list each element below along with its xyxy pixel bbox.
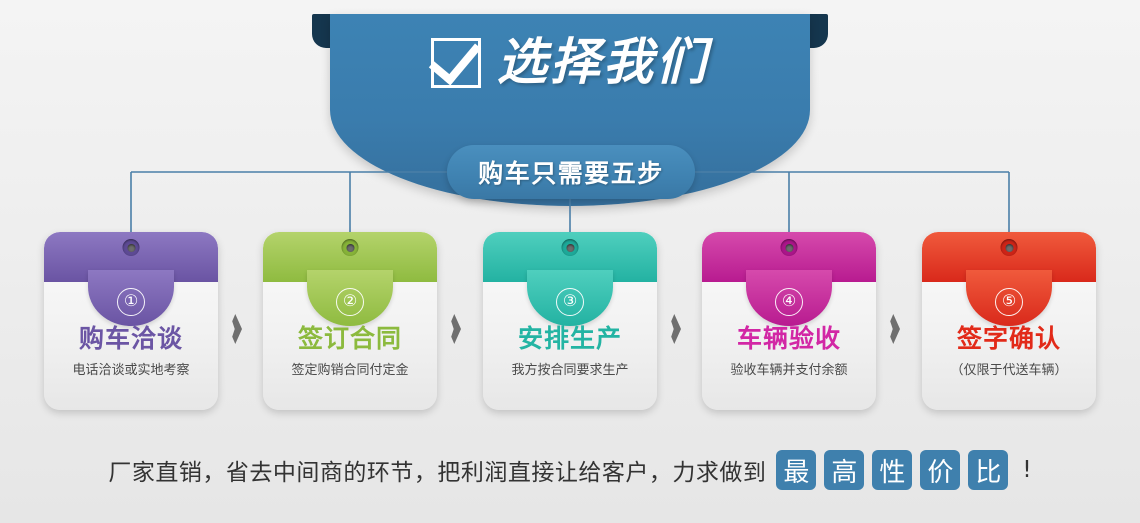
step-title-2: 签订合同 (263, 325, 437, 353)
grommet-hole-icon-2 (342, 239, 359, 256)
step-number-4: ④ (775, 288, 803, 316)
step-number-5: ⑤ (995, 288, 1023, 316)
step-subtitle-4: 验收车辆并支付余额 (702, 363, 876, 379)
step-card-tab-1: ① (88, 270, 174, 326)
step-title-4: 车辆验收 (702, 325, 876, 353)
step-arrow-icon-2 (447, 314, 461, 344)
highlight-box-2: 高 (824, 450, 864, 490)
step-arrow-icon-4 (886, 314, 900, 344)
footer-highlight-boxes: 最 高 性 价 比 (776, 450, 1008, 490)
step-card-tab-5: ⑤ (966, 270, 1052, 326)
step-title-1: 购车洽谈 (44, 325, 218, 353)
step-subtitle-1: 电话洽谈或实地考察 (44, 363, 218, 379)
footer-tagline: 厂家直销，省去中间商的环节，把利润直接让给客户，力求做到 最 高 性 价 比 ! (0, 440, 1140, 500)
step-card-4[interactable]: ④ 车辆验收 验收车辆并支付余额 (702, 232, 876, 410)
footer-lead-text: 厂家直销，省去中间商的环节，把利润直接让给客户，力求做到 (108, 453, 766, 487)
highlight-box-1: 最 (776, 450, 816, 490)
highlight-box-4: 价 (920, 450, 960, 490)
steps-row: ① 购车洽谈 电话洽谈或实地考察 ② 签订合同 签定购销合同付定金 ③ 安排生产… (0, 232, 1140, 412)
step-card-3[interactable]: ③ 安排生产 我方按合同要求生产 (483, 232, 657, 410)
step-subtitle-2: 签定购销合同付定金 (263, 363, 437, 379)
step-title-5: 签字确认 (922, 325, 1096, 353)
step-number-1: ① (117, 288, 145, 316)
subtitle-pill-label: 购车只需要五步 (478, 154, 664, 190)
step-arrow-icon-1 (228, 314, 242, 344)
step-card-2[interactable]: ② 签订合同 签定购销合同付定金 (263, 232, 437, 410)
grommet-hole-icon-1 (123, 239, 140, 256)
step-title-3: 安排生产 (483, 325, 657, 353)
highlight-box-5: 比 (968, 450, 1008, 490)
step-card-1[interactable]: ① 购车洽谈 电话洽谈或实地考察 (44, 232, 218, 410)
step-card-tab-2: ② (307, 270, 393, 326)
grommet-hole-icon-5 (1001, 239, 1018, 256)
grommet-hole-icon-4 (781, 239, 798, 256)
grommet-hole-icon-3 (562, 239, 579, 256)
footer-trailing-text: ! (1022, 457, 1031, 483)
step-subtitle-3: 我方按合同要求生产 (483, 363, 657, 379)
step-card-tab-3: ③ (527, 270, 613, 326)
step-card-5[interactable]: ⑤ 签字确认 （仅限于代送车辆） (922, 232, 1096, 410)
subtitle-pill: 购车只需要五步 (447, 145, 695, 199)
step-number-2: ② (336, 288, 364, 316)
step-card-tab-4: ④ (746, 270, 832, 326)
step-number-3: ③ (556, 288, 584, 316)
step-arrow-icon-3 (667, 314, 681, 344)
step-subtitle-5: （仅限于代送车辆） (922, 363, 1096, 379)
highlight-box-3: 性 (872, 450, 912, 490)
